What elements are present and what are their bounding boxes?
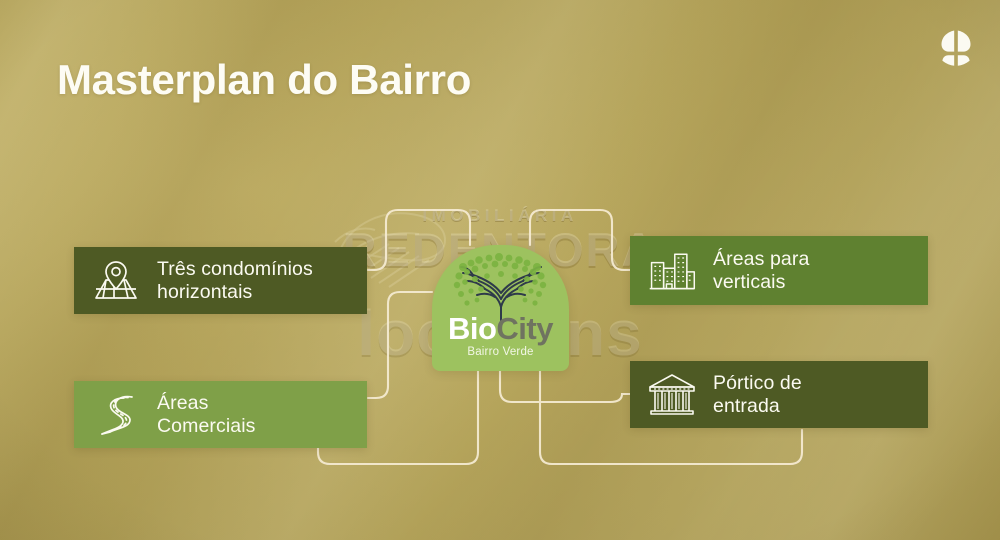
logo-wordmark: BioCity <box>432 313 569 344</box>
slide-canvas: IMOBILIÁRIA REDENTORA locabens Masterpla… <box>0 0 1000 540</box>
connector-to-comerciais <box>368 292 432 398</box>
connector-to-portico <box>500 371 630 402</box>
card-comerciais[interactable]: Áreas Comerciais <box>74 381 367 448</box>
logo-tagline: Bairro Verde <box>432 346 569 358</box>
card-label: Áreas para verticais <box>713 248 809 293</box>
card-label: Três condomínios horizontais <box>157 258 313 303</box>
map-pin-icon <box>90 255 142 307</box>
card-label: Pórtico de entrada <box>713 372 802 417</box>
center-logo: BioCity Bairro Verde <box>432 245 569 371</box>
card-condominios[interactable]: Três condomínios horizontais <box>74 247 367 314</box>
card-label: Áreas Comerciais <box>157 392 256 437</box>
portico-icon <box>646 369 698 421</box>
logo-name-part1: Bio <box>448 311 496 346</box>
buildings-icon <box>646 245 698 297</box>
card-portico[interactable]: Pórtico de entrada <box>630 361 928 428</box>
logo-name-part2: City <box>496 311 553 346</box>
card-verticais[interactable]: Áreas para verticais <box>630 236 928 305</box>
winding-road-icon <box>90 389 142 441</box>
